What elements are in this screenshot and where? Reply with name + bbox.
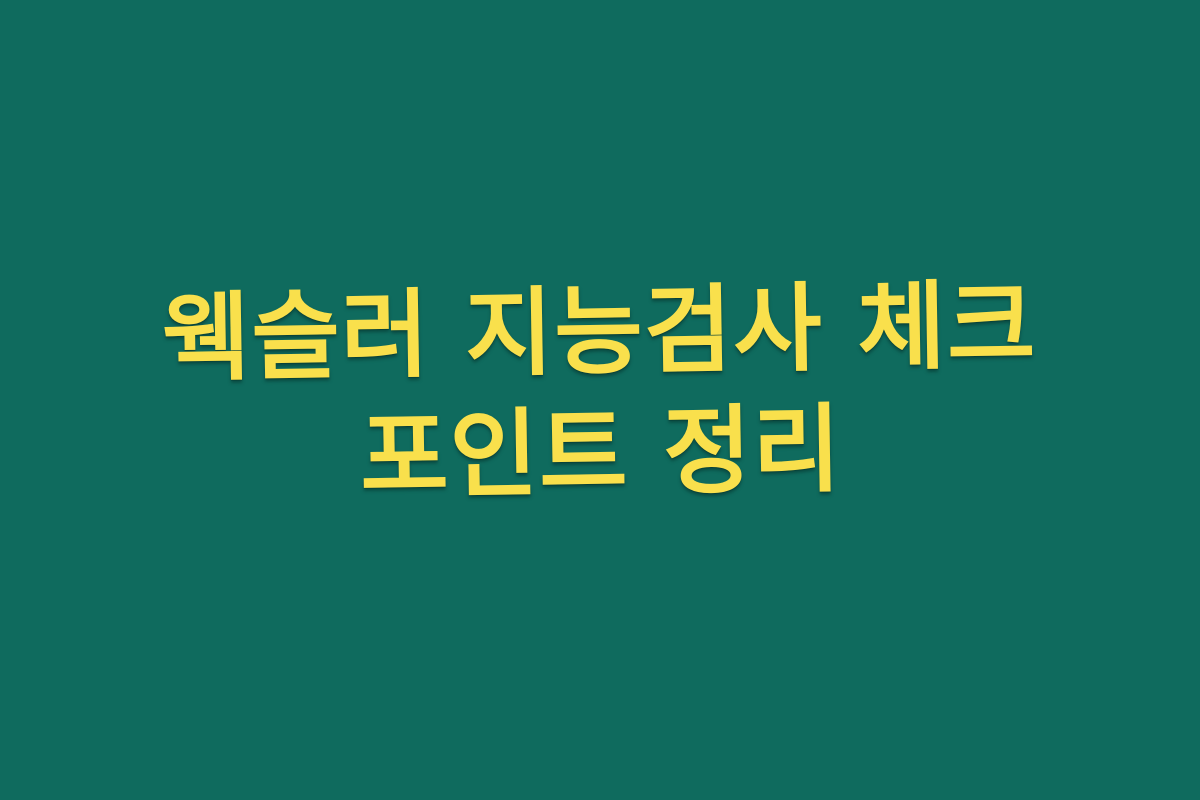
title-line-2: 포인트 정리: [163, 387, 1039, 520]
title-line-1: 웩슬러 지능검사 체크: [161, 266, 1037, 399]
thumbnail-canvas: 웩슬러 지능검사 체크 포인트 정리: [0, 0, 1200, 800]
title-block: 웩슬러 지능검사 체크 포인트 정리: [161, 266, 1039, 534]
